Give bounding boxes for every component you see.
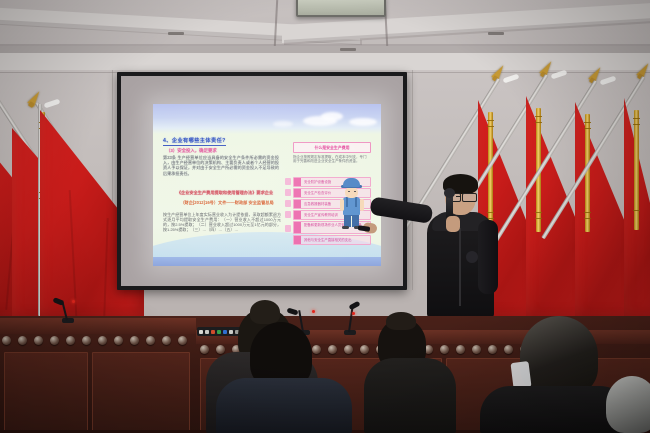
slide-panel-note: 指企业按照规定标准提取，在成本中列支，专门用于完善和改进企业安全生产条件的资金。 <box>293 155 369 164</box>
slide-panel-item: 安全生产检查评价 <box>304 189 331 197</box>
slide-panel-item: 应急救援器材装备 <box>304 200 331 208</box>
slide-red-line-2: （财企[2012]16号）文件——财政部 安全监管总局 <box>175 200 279 206</box>
projected-slide: 4、企业有哪些主体责任? （3）安全投入，确足要求 第23条 生产经营单位应当具… <box>153 104 381 266</box>
list-item: 其他与安全生产直接相关的支出 <box>293 235 371 245</box>
slide-bottom-bar <box>153 257 381 266</box>
slide-panel-item: 安全生产宣传教育培训 <box>304 211 338 219</box>
ceiling-light <box>296 0 386 17</box>
slide-panel-title: 什么是安全生产费用 <box>294 143 370 152</box>
projection-screen-surface: 4、企业有哪些主体责任? （3）安全投入，确足要求 第23条 生产经营单位应当具… <box>121 76 403 286</box>
slide-title: 4、企业有哪些主体责任? <box>163 137 226 146</box>
slide-sky-band <box>153 104 381 134</box>
face-mask <box>510 361 531 389</box>
presenter-right-arm <box>478 220 498 294</box>
slide-panel-item: 其他与安全生产直接相关的支出 <box>304 236 351 244</box>
slide-subtitle: （3）安全投入，确足要求 <box>166 148 217 154</box>
presenter-mic-hand <box>446 216 460 232</box>
slide-panel-title-box: 什么是安全生产费用 <box>293 142 371 153</box>
slide-paragraph: 第23条 生产经营单位应当具备的安全生产条件所必需的资金投入，由生产经营单位的决… <box>163 155 279 176</box>
slide-paragraph-2: 按生产经营单位上年度实际营业收入为计提依据，采取超额累退方式逐月平均提取安全生产… <box>163 212 281 232</box>
cartoon-worker-icon <box>339 178 365 230</box>
conference-hall-photo: 4、企业有哪些主体责任? （3）安全投入，确足要求 第23条 生产经营单位应当具… <box>0 0 650 433</box>
rostrum-stud-row <box>2 336 198 345</box>
slide-panel-item: 安全防护设备设施 <box>304 178 331 186</box>
slide-red-line-1: 《企业安全生产费用提取和使用管理办法》要求企业 <box>171 190 279 195</box>
projection-screen: 4、企业有哪些主体责任? （3）安全投入，确足要求 第23条 生产经营单位应当具… <box>117 72 407 290</box>
